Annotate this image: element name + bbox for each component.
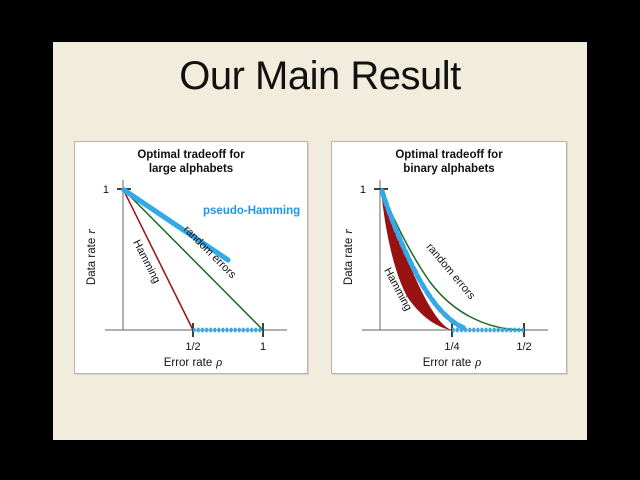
chart-plot-area-binary-alphabets: 1 1/4 1/2 random errors Hamming Error ra…: [332, 142, 566, 373]
label-hamming: Hamming: [130, 238, 162, 285]
x-ticklabel-one: 1: [260, 341, 266, 353]
y-axis-label: Data rater: [341, 229, 355, 285]
label-random-errors: random errors: [424, 241, 478, 302]
label-random-errors: random errors: [181, 224, 239, 282]
label-pseudo-hamming: pseudo-Hamming: [203, 205, 300, 217]
y-axis-label: Data rater: [84, 229, 98, 285]
x-ticklabel-quarter: 1/4: [444, 341, 459, 353]
x-axis-label: Error rateρ: [164, 355, 223, 369]
slide-canvas: Our Main Result Optimal tradeoff for lar…: [53, 42, 587, 440]
x-ticklabel-half: 1/2: [516, 341, 531, 353]
page-title: Our Main Result: [53, 54, 587, 99]
y-ticklabel-1: 1: [360, 184, 366, 196]
x-axis-label: Error rateρ: [423, 355, 482, 369]
chart-panel-binary-alphabets: Optimal tradeoff for binary alphabets 1 …: [331, 141, 567, 374]
chart-plot-area-large-alphabets: 1 1/2 1 pseudo-Hamming random errors Ham…: [75, 142, 307, 373]
x-ticklabel-half: 1/2: [185, 341, 200, 353]
y-ticklabel-1: 1: [103, 184, 109, 196]
chart-panel-large-alphabets: Optimal tradeoff for large alphabets 1 1…: [74, 141, 308, 374]
